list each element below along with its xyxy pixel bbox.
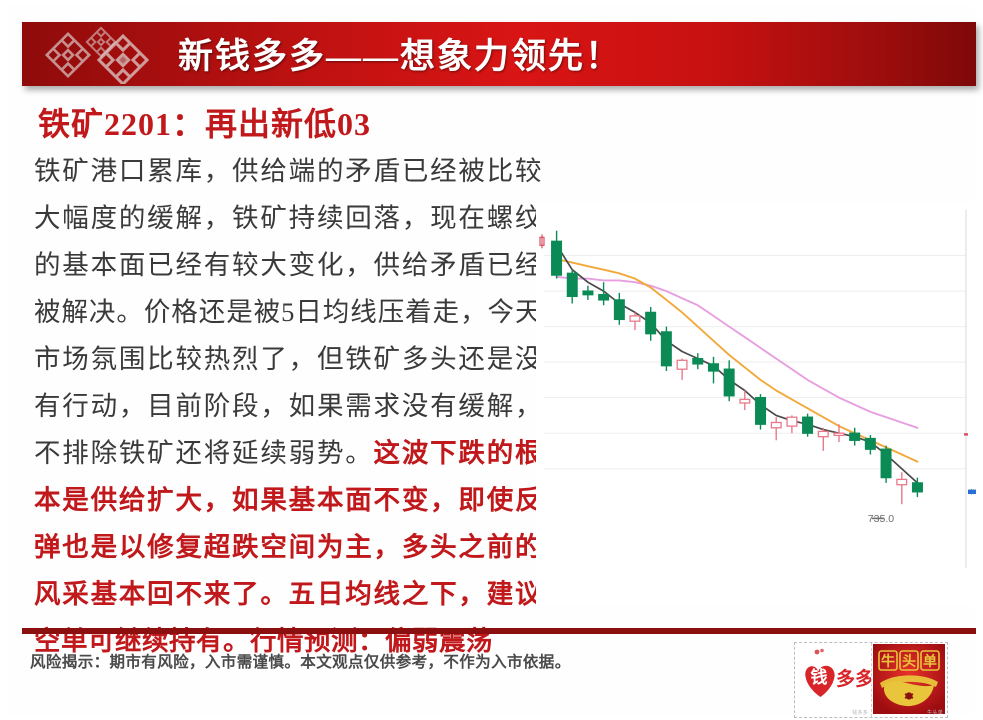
candle-series <box>552 231 923 505</box>
article-body: 铁矿港口累库，供给端的矛盾已经被比较大幅度的缓解，铁矿持续回落，现在螺纹的基本面… <box>34 148 542 665</box>
article-body-highlight: 这波下跌的根本是供给扩大，如果基本面不变，即使反弹也是以修复超跌空间为主，多头之… <box>34 438 542 656</box>
price-label: 735.0 <box>868 513 894 525</box>
qianduoduo-logo-svg: 钱 多多 <box>795 643 871 715</box>
page-title: 铁矿2201：再出新低03 <box>38 99 371 145</box>
ntd-box-char-0: 牛 <box>881 653 895 670</box>
candlestick-chart: 735.0 <box>536 202 982 606</box>
banner-title: 新钱多多——想象力领先！ <box>178 28 622 79</box>
niutoudan-logo-svg: 牛头单 <box>872 643 946 715</box>
qdd-heart-char: 钱 <box>811 667 828 687</box>
qdd-watermark: 钱多多 <box>852 709 868 716</box>
page-canvas: 新钱多多——想象力领先！ 铁矿2201：再出新低03 铁矿港口累库，供给端的矛盾… <box>8 6 975 714</box>
ntd-watermark: 牛头单 <box>927 709 943 716</box>
niutoudan-logo: 牛头单 牛头单 <box>872 643 946 717</box>
diamond-fret-logo-svg <box>38 26 154 84</box>
risk-disclaimer: 风险揭示：期市有风险，入市需谨慎。本文观点仅供参考，不作为入市依据。 <box>30 650 720 672</box>
brand-logos: 钱 多多 钱多多 牛头单 <box>794 642 948 718</box>
slide-page: 新钱多多——想象力领先！ 铁矿2201：再出新低03 铁矿港口累库，供给端的矛盾… <box>0 0 983 720</box>
ma20-line <box>557 277 918 428</box>
qdd-text: 多多 <box>836 667 871 690</box>
chart-gridlines <box>544 256 966 469</box>
qianduoduo-logo: 钱 多多 钱多多 <box>795 643 872 717</box>
ntd-box-char-1: 头 <box>902 653 916 670</box>
chart-markers <box>540 234 976 495</box>
footer-divider <box>22 628 976 634</box>
ntd-box-char-2: 单 <box>923 653 937 670</box>
header-banner: 新钱多多——想象力领先！ <box>22 22 976 86</box>
diamond-fret-logo <box>38 26 154 84</box>
ma10-line <box>557 259 918 462</box>
article-body-plain: 铁矿港口累库，供给端的矛盾已经被比较大幅度的缓解，铁矿持续回落，现在螺纹的基本面… <box>34 156 542 468</box>
candlestick-chart-svg: 735.0 <box>536 202 982 606</box>
